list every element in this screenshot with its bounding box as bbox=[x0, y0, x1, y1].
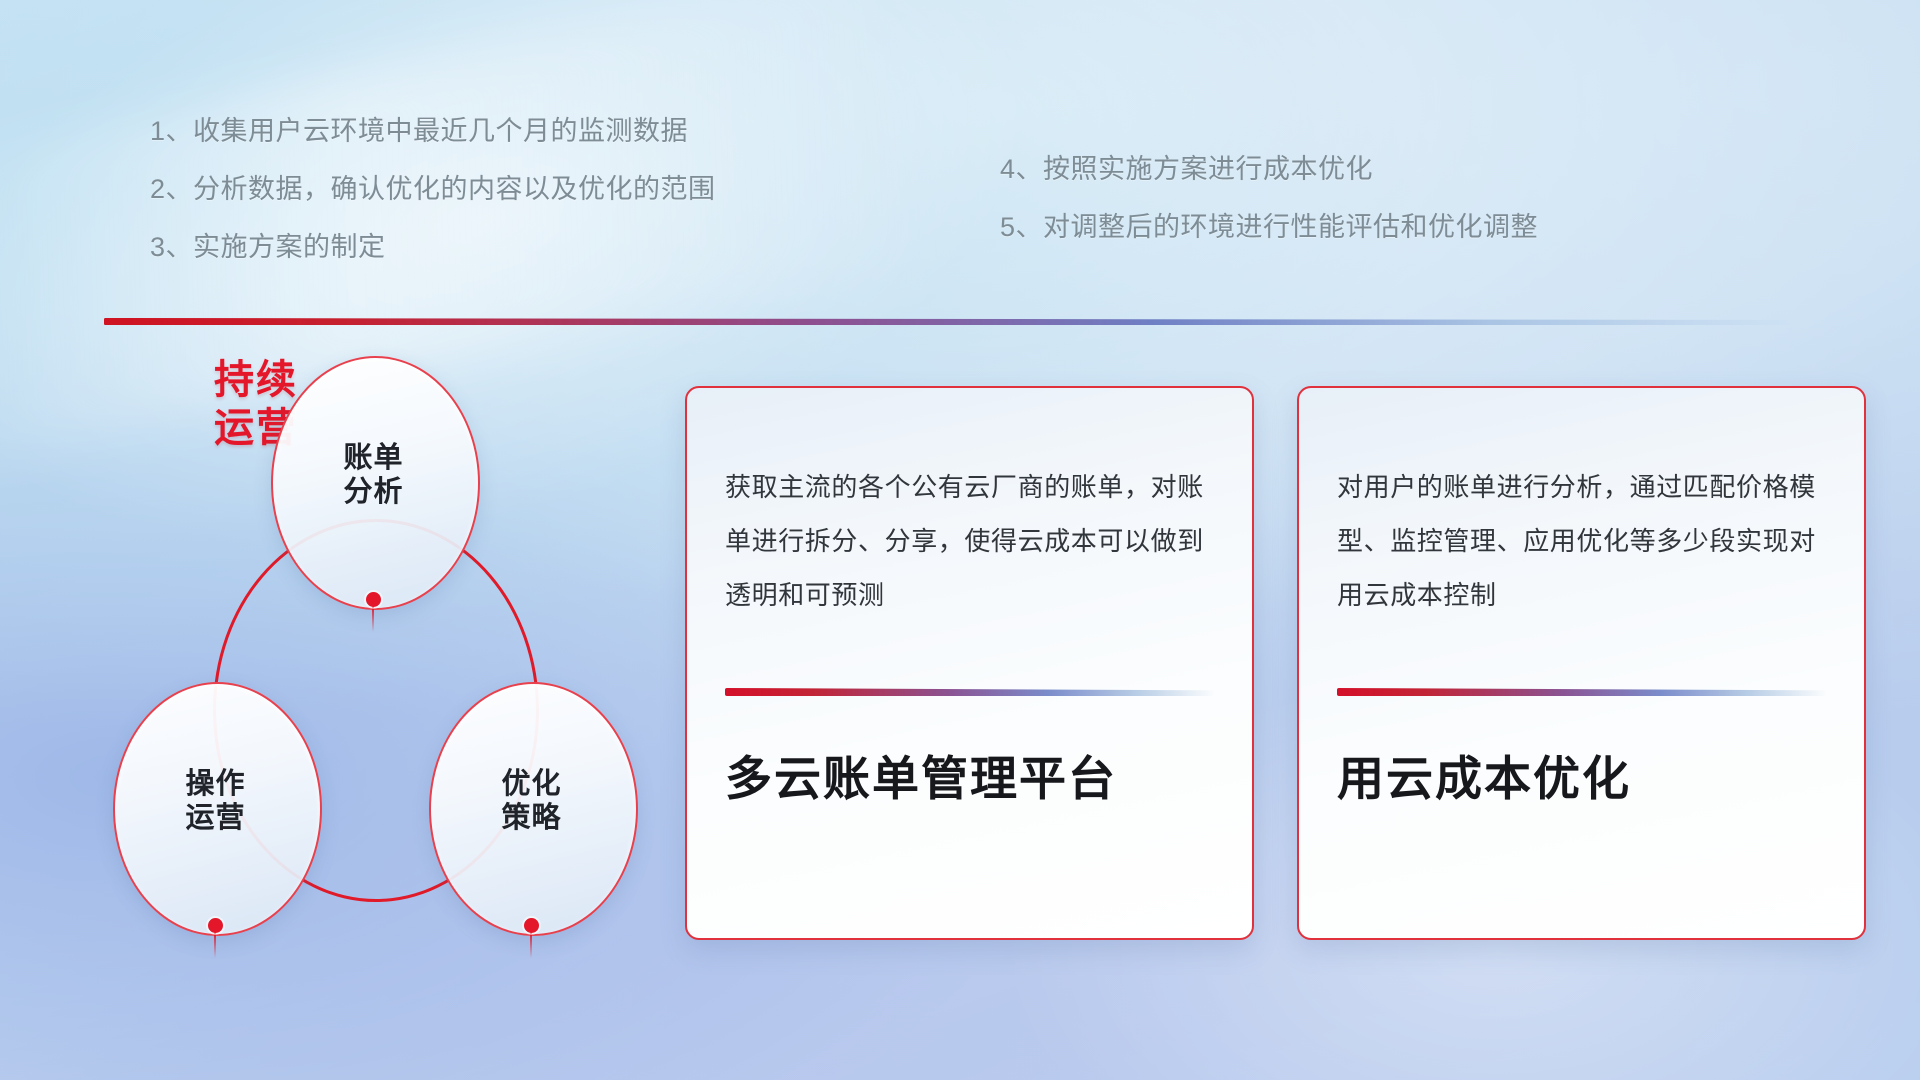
feature-card-2[interactable]: 对用户的账单进行分析，通过匹配价格模型、监控管理、应用优化等多少段实现对用云成本… bbox=[1297, 386, 1866, 940]
feature-card-1-body: 获取主流的各个公有云厂商的账单，对账单进行拆分、分享，使得云成本可以做到透明和可… bbox=[725, 460, 1222, 622]
venn-node-top bbox=[366, 592, 381, 607]
feature-card-2-title: 用云成本优化 bbox=[1337, 740, 1837, 809]
venn-tail-top bbox=[372, 606, 374, 632]
step-item-4: 4、按照实施方案进行成本优化 bbox=[1000, 156, 1538, 183]
feature-card-1[interactable]: 获取主流的各个公有云厂商的账单，对账单进行拆分、分享，使得云成本可以做到透明和可… bbox=[685, 386, 1254, 940]
venn-diagram: 账单 分析 操作 运营 优化 策略 持续 运营 bbox=[96, 356, 626, 956]
venn-tail-bottom-left bbox=[214, 932, 216, 958]
feature-card-2-rule bbox=[1337, 688, 1827, 696]
steps-column-right: 4、按照实施方案进行成本优化 5、对调整后的环境进行性能评估和优化调整 bbox=[1000, 156, 1538, 241]
step-item-2: 2、分析数据，确认优化的内容以及优化的范围 bbox=[150, 176, 716, 203]
step-item-1: 1、收集用户云环境中最近几个月的监测数据 bbox=[150, 118, 716, 145]
venn-label-top: 账单 分析 bbox=[271, 441, 476, 509]
feature-card-1-rule bbox=[725, 688, 1215, 696]
feature-card-1-title: 多云账单管理平台 bbox=[725, 740, 1225, 809]
venn-node-bottom-right bbox=[524, 918, 539, 933]
steps-column-left: 1、收集用户云环境中最近几个月的监测数据 2、分析数据，确认优化的内容以及优化的… bbox=[150, 118, 716, 261]
venn-node-bottom-left bbox=[208, 918, 223, 933]
step-item-5: 5、对调整后的环境进行性能评估和优化调整 bbox=[1000, 214, 1538, 241]
step-item-3: 3、实施方案的制定 bbox=[150, 234, 716, 261]
venn-label-bottom-left: 操作 运营 bbox=[113, 767, 318, 835]
venn-tail-bottom-right bbox=[530, 932, 532, 958]
feature-card-2-body: 对用户的账单进行分析，通过匹配价格模型、监控管理、应用优化等多少段实现对用云成本… bbox=[1337, 460, 1834, 622]
venn-label-bottom-right: 优化 策略 bbox=[429, 767, 634, 835]
